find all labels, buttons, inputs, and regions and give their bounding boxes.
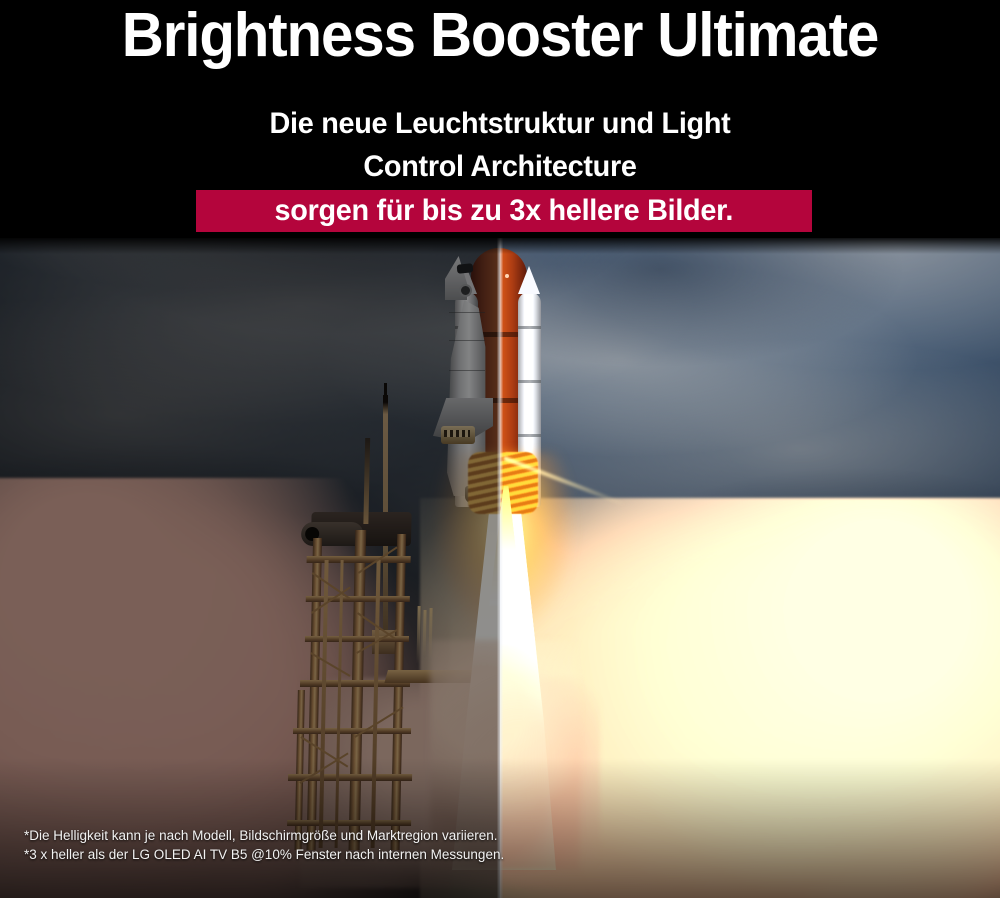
orbiter-panel-line — [449, 370, 485, 371]
orbiter-service-pod — [441, 426, 475, 444]
gantry-deck — [293, 728, 411, 734]
orbiter-panel-line — [449, 312, 485, 313]
footnote-line-2: *3 x heller als der LG OLED AI TV B5 @10… — [24, 845, 504, 864]
brightness-booster-banner: Brightness Booster Ultimate Die neue Leu… — [0, 0, 1000, 898]
subtitle-line-1: Die neue Leuchtstruktur und Light — [270, 107, 731, 140]
tank-marking — [505, 274, 509, 278]
orbiter-hatch — [459, 284, 472, 297]
exhaust-shock-coil — [468, 452, 500, 514]
headline-text-band: Brightness Booster Ultimate Die neue Leu… — [0, 0, 1000, 238]
highlight-claim-text: sorgen für bis zu 3x hellere Bilder. — [275, 194, 734, 228]
page-title: Brightness Booster Ultimate — [30, 3, 970, 69]
orbiter-panel-line — [449, 340, 485, 341]
subtitle-line-2: Control Architecture — [363, 150, 636, 183]
highlight-bar: sorgen für bis zu 3x hellere Bilder. — [196, 190, 812, 232]
footnote-line-1: *Die Helligkeit kann je nach Modell, Bil… — [24, 826, 504, 845]
orbiter-cockpit-window — [457, 263, 474, 274]
gantry-deck — [307, 556, 411, 563]
subtitle-block: Die neue Leuchtstruktur und Light Contro… — [164, 102, 836, 188]
footnote-block: *Die Helligkeit kann je nach Modell, Bil… — [24, 826, 504, 864]
gantry-deck — [306, 596, 410, 602]
